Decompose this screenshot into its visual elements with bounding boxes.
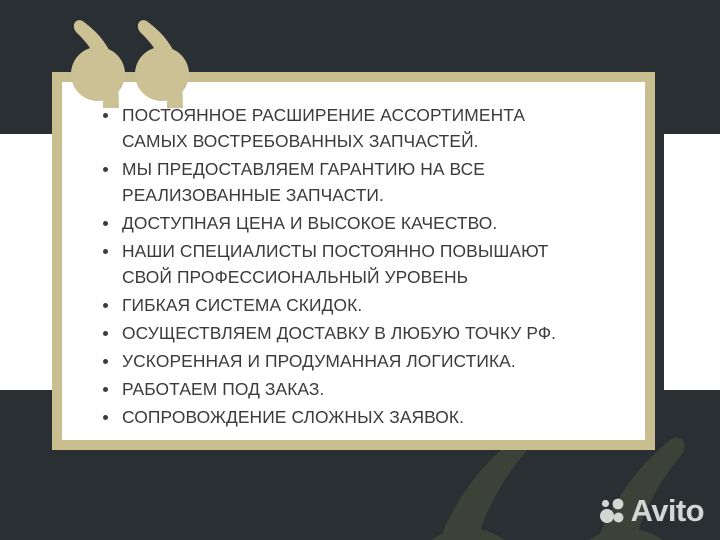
quote-card-frame: ПОСТОЯННОЕ РАСШИРЕНИЕ АССОРТИМЕНТА САМЫХ… (52, 72, 655, 450)
list-item: ОСУЩЕСТВЛЯЕМ ДОСТАВКУ В ЛЮБУЮ ТОЧКУ РФ. (96, 320, 617, 346)
avito-wordmark: Avito (631, 495, 704, 526)
list-item: СОПРОВОЖДЕНИЕ СЛОЖНЫХ ЗАЯВОК. (96, 404, 617, 430)
avito-logo-icon (600, 498, 626, 524)
avito-watermark: Avito (600, 495, 704, 526)
list-item: ПОСТОЯННОЕ РАСШИРЕНИЕ АССОРТИМЕНТА САМЫХ… (96, 102, 617, 154)
list-item: НАШИ СПЕЦИАЛИСТЫ ПОСТОЯННО ПОВЫШАЮТ СВОЙ… (96, 238, 617, 290)
list-item: МЫ ПРЕДОСТАВЛЯЕМ ГАРАНТИЮ НА ВСЕ РЕАЛИЗО… (96, 156, 617, 208)
poster-canvas: ПОСТОЯННОЕ РАСШИРЕНИЕ АССОРТИМЕНТА САМЫХ… (0, 0, 720, 540)
list-item: ГИБКАЯ СИСТЕМА СКИДОК. (96, 292, 617, 318)
right-white-band (664, 134, 720, 390)
list-item: ДОСТУПНАЯ ЦЕНА И ВЫСОКОЕ КАЧЕСТВО. (96, 210, 617, 236)
list-item: РАБОТАЕМ ПОД ЗАКАЗ. (96, 376, 617, 402)
benefits-list: ПОСТОЯННОЕ РАСШИРЕНИЕ АССОРТИМЕНТА САМЫХ… (96, 102, 617, 430)
quote-card-body: ПОСТОЯННОЕ РАСШИРЕНИЕ АССОРТИМЕНТА САМЫХ… (62, 82, 645, 440)
list-item: УСКОРЕННАЯ И ПРОДУМАННАЯ ЛОГИСТИКА. (96, 348, 617, 374)
left-white-band (0, 134, 56, 390)
